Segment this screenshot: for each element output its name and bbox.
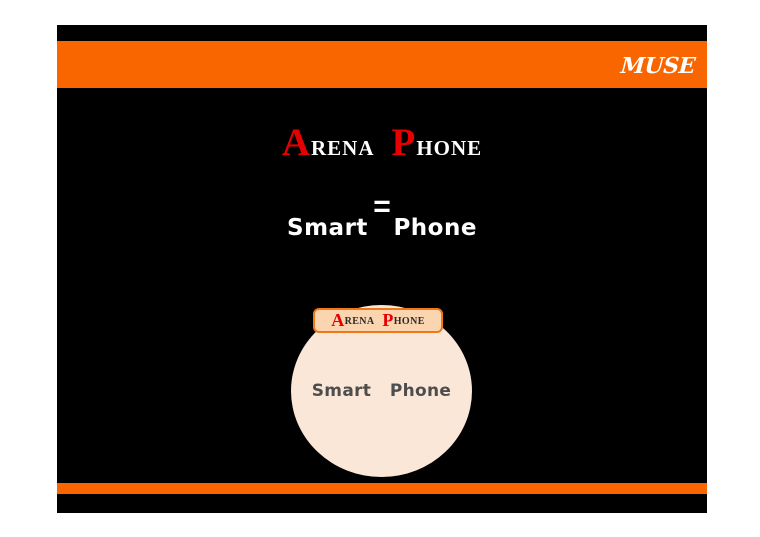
title-initial-p: P: [392, 121, 417, 164]
page-title: Arena Phone: [57, 120, 707, 165]
subtitle-smart-phone: Smart Phone: [57, 215, 707, 241]
button-gap: [375, 313, 383, 329]
title-word-arena: rena: [311, 129, 375, 162]
title-initial-a: A: [282, 121, 311, 164]
header-orange-band: Muse: [57, 41, 707, 88]
diagram-group: Smart Phone Arena Phone: [57, 275, 707, 485]
footer-orange-band: [57, 483, 707, 494]
title-gap: [375, 129, 392, 162]
button-initial-p: P: [382, 310, 393, 331]
arena-phone-button[interactable]: Arena Phone: [313, 308, 443, 333]
button-word-arena: rena: [345, 313, 375, 329]
title-word-phone: hone: [416, 129, 482, 162]
brand-logo: Muse: [620, 45, 697, 81]
slide-body: Muse Arena Phone = Smart Phone Smart Pho…: [57, 25, 707, 513]
button-initial-a: A: [331, 310, 344, 331]
button-word-phone: hone: [394, 313, 425, 329]
slide-canvas: Muse Arena Phone = Smart Phone Smart Pho…: [0, 0, 760, 537]
